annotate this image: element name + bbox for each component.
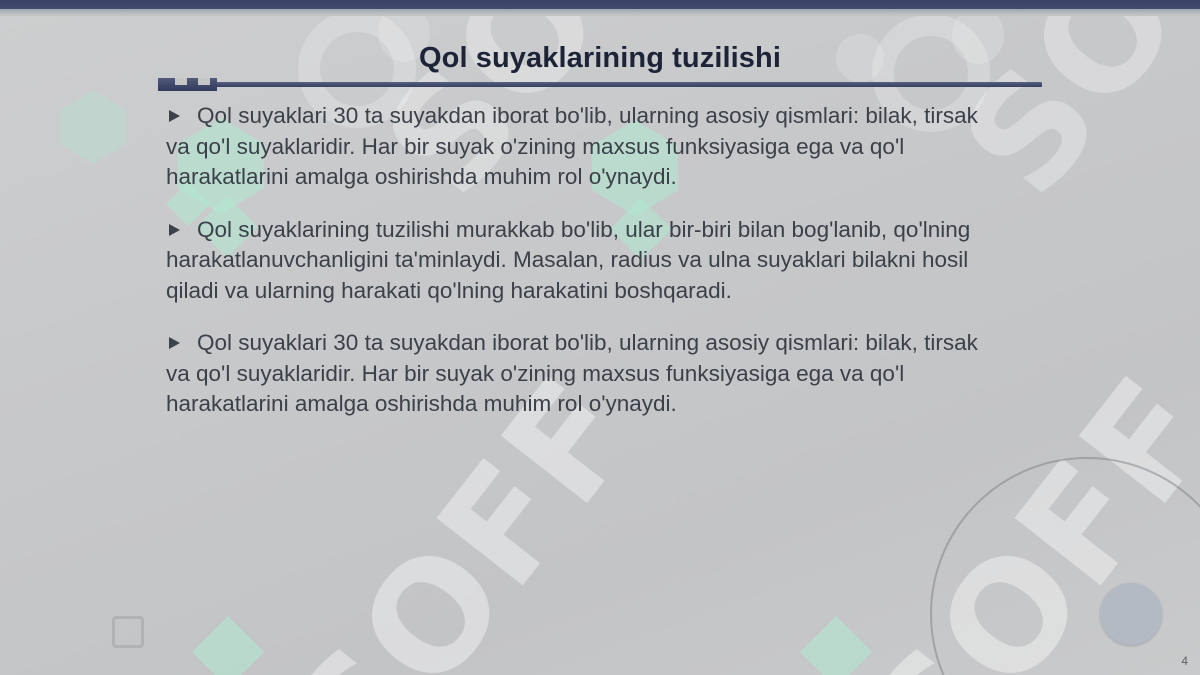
triangle-right-icon (169, 224, 180, 236)
divider-notch (175, 78, 187, 85)
triangle-right-icon (169, 337, 180, 349)
top-accent-bar (0, 0, 1200, 9)
decorative-square-outline (112, 616, 144, 648)
bullet-paragraph-text: Qol suyaklari 30 ta suyakdan iborat bo'l… (166, 330, 978, 416)
page-number: 4 (1181, 654, 1188, 668)
diamond-logo-watermark (800, 616, 872, 675)
bullet-paragraph-text: Qol suyaklari 30 ta suyakdan iborat bo'l… (166, 103, 978, 189)
triangle-right-icon (169, 110, 180, 122)
top-accent-bar-highlight (0, 9, 1200, 16)
title-divider (158, 78, 1042, 92)
bullet-paragraph-text: Qol suyaklarining tuzilishi murakkab bo'… (166, 217, 970, 303)
decorative-circle-outline (930, 457, 1200, 675)
slide-title: Qol suyaklarining tuzilishi (0, 42, 1200, 75)
presentation-slide: SOFF SOFF SOFF SOFF Qol suyaklarining tu… (0, 0, 1200, 675)
bullet-paragraph: Qol suyaklarining tuzilishi murakkab bo'… (166, 215, 1002, 307)
divider-notch (198, 78, 210, 85)
bullet-paragraph: Qol suyaklari 30 ta suyakdan iborat bo'l… (166, 101, 1002, 193)
diamond-logo-watermark (192, 616, 264, 675)
slide-body: Qol suyaklari 30 ta suyakdan iborat bo'l… (166, 101, 1002, 420)
decorative-circle-dot (1100, 583, 1162, 645)
hexagon-logo-watermark (60, 90, 126, 164)
bullet-paragraph: Qol suyaklari 30 ta suyakdan iborat bo'l… (166, 328, 1002, 420)
divider-line (158, 82, 1042, 87)
